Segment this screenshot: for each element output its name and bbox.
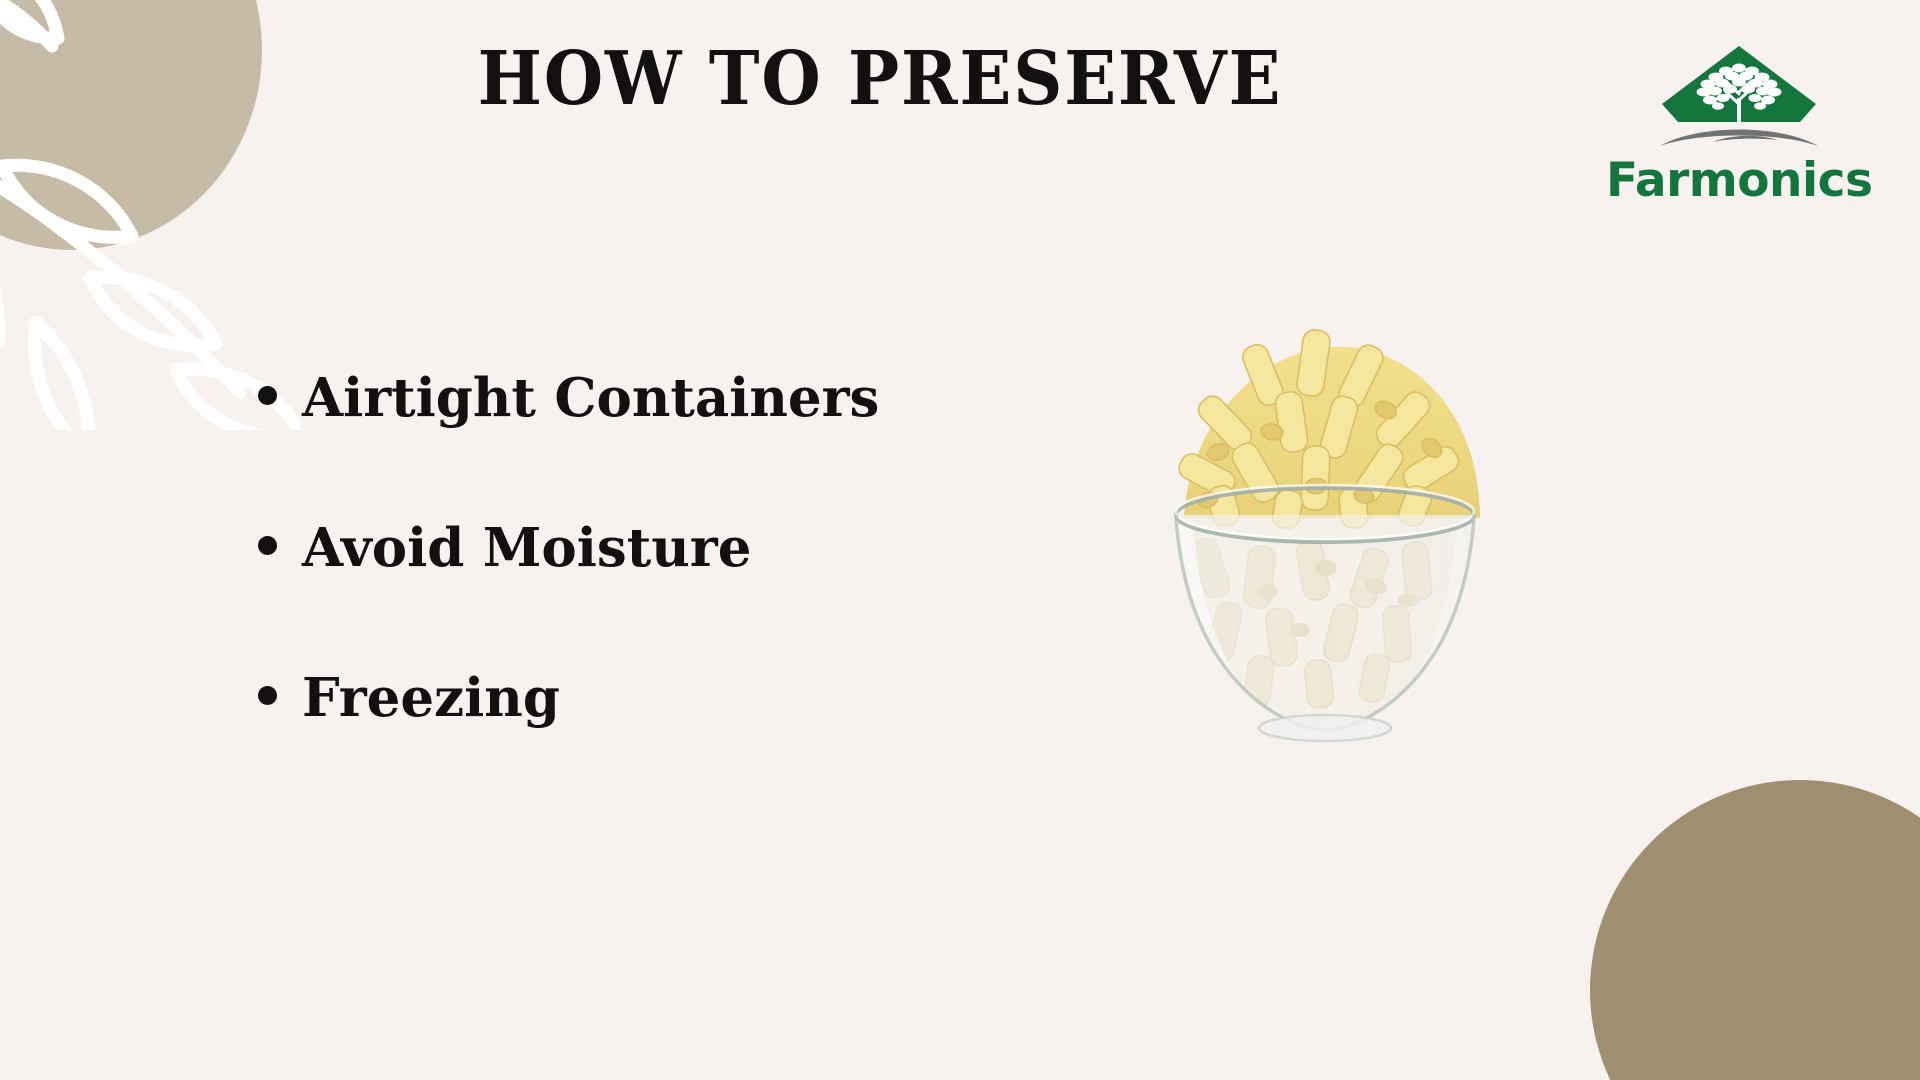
list-item: Airtight Containers — [258, 372, 1078, 522]
bullet-dot-icon — [258, 536, 277, 555]
brand-wordmark: Farmonics — [1606, 156, 1872, 205]
pasta-bowl-photo — [1150, 300, 1500, 760]
decorative-circle-bottom-right — [1590, 780, 1920, 1080]
page-title: HOW TO PRESERVE — [70, 42, 1689, 116]
list-item-label: Airtight Containers — [302, 372, 879, 425]
list-item: Freezing — [258, 672, 1078, 822]
list-item: Avoid Moisture — [258, 522, 1078, 672]
brand-logo: Farmonics — [1606, 42, 1872, 205]
slide-canvas: HOW TO PRESERVE — [0, 0, 1920, 1080]
bullet-dot-icon — [258, 386, 277, 405]
tree-in-diamond-icon — [1654, 42, 1824, 154]
list-item-label: Avoid Moisture — [302, 522, 751, 575]
decorative-circle-top-left — [0, 0, 262, 250]
bullet-dot-icon — [258, 686, 277, 705]
list-item-label: Freezing — [302, 672, 560, 725]
preservation-tips-list: Airtight Containers Avoid Moisture Freez… — [258, 372, 1078, 822]
